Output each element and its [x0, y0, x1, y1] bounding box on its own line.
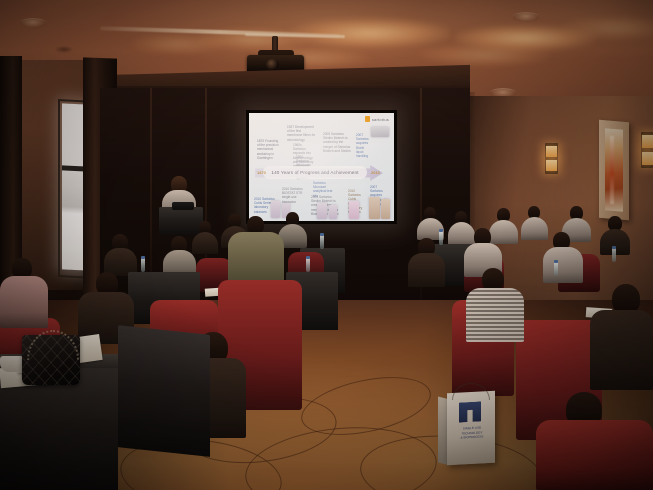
slide-banner-text: 140 Years of Progress and Achievement	[271, 170, 358, 175]
audience-torso	[466, 288, 524, 342]
sconce-panel	[642, 135, 653, 148]
sprinkler-head-icon	[20, 18, 46, 28]
sconce-panel	[642, 152, 653, 165]
sconce-panel	[546, 146, 557, 157]
audience-torso	[192, 232, 218, 254]
water-bottle	[141, 258, 145, 272]
bottle-cap	[439, 229, 443, 232]
audience-torso	[448, 222, 475, 246]
wall-sconce	[641, 132, 653, 168]
slide-product-image	[371, 127, 389, 137]
slide-product-image	[369, 197, 380, 219]
audience-torso	[543, 247, 583, 283]
slide-brand-logo: sartorius	[365, 116, 389, 122]
projector-lens-icon	[266, 59, 279, 70]
bottle-cap	[554, 260, 558, 263]
slide-product-image	[329, 205, 337, 219]
lectern-laptop	[172, 202, 194, 210]
wall-sconce	[545, 143, 558, 174]
audience-torso	[590, 310, 653, 390]
slide-product-image	[349, 201, 359, 219]
conference-room-photo: sartorius 1870 Founding of the precision…	[0, 0, 653, 490]
curtain-fold	[420, 88, 422, 333]
audience-torso	[408, 253, 445, 287]
water-bottle	[439, 231, 443, 245]
tote-bag-text: SINGLE-USE TECHNOLOGY & BIOPROCESS	[453, 425, 491, 440]
paper-cup	[0, 356, 24, 372]
cove-light	[130, 34, 225, 54]
water-bottle	[320, 235, 324, 249]
slide-brand-name: sartorius	[372, 117, 389, 122]
bottle-cap	[306, 256, 310, 259]
slide-product-image	[317, 203, 327, 219]
slide-text-block: 2007 Sartorius acquires Biohit liquid ha…	[356, 133, 372, 158]
cove-light	[560, 16, 653, 40]
foreground-table-2	[118, 325, 210, 457]
sconce-panel	[546, 160, 557, 171]
slide-text-block: 2010 Sartorius BIOSTAT STR single-use bi…	[282, 187, 308, 204]
bottle-cap	[612, 246, 616, 249]
slide-year-start: 1870	[257, 170, 266, 175]
projection-screen: sartorius 1870 Founding of the precision…	[249, 113, 394, 221]
sartorius-logo-mark-icon	[365, 116, 370, 122]
sprinkler-head-icon	[513, 12, 539, 22]
audience-torso	[521, 217, 548, 240]
water-bottle	[306, 258, 310, 272]
artwork-brushstroke	[610, 136, 614, 204]
slide-text-block: 1927 Development of the first membrane f…	[287, 125, 317, 142]
water-bottle	[554, 262, 558, 276]
slide-text-block: 1870 Founding of the precision mechanica…	[257, 139, 279, 160]
water-bottle	[612, 248, 616, 262]
bottle-cap	[320, 233, 324, 236]
slide-banner: 140 Years of Progress and Achievement	[263, 166, 367, 179]
lectern	[159, 207, 203, 235]
audience-torso	[0, 276, 48, 328]
framed-artwork-canvas	[605, 128, 623, 212]
slide-text-block: 2005 Sartorius Stedim Biotech is created…	[323, 132, 351, 153]
slide-product-image	[271, 201, 280, 218]
audience-torso	[536, 420, 653, 490]
bottle-cap	[141, 256, 145, 259]
audience-torso	[489, 220, 518, 244]
slide-year-end: 2010	[371, 170, 380, 175]
cove-light	[420, 44, 550, 66]
smoke-detector-icon	[55, 46, 73, 53]
slide-product-image	[381, 199, 390, 219]
